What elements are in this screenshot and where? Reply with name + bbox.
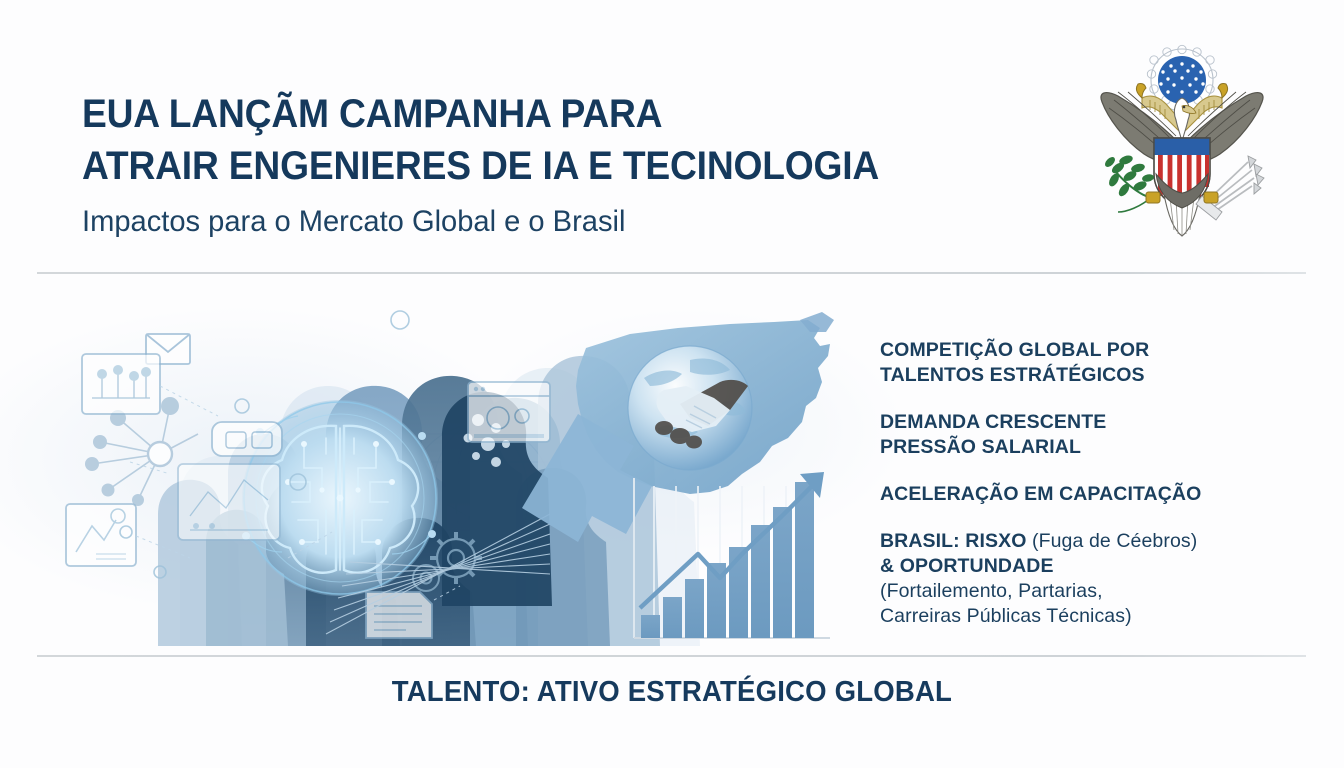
- browser-window-icon: [468, 382, 550, 442]
- illustration-panel: [30, 286, 850, 646]
- footer-text: TALENTO: ATIVO ESTRATÉGICO GLOBAL: [392, 676, 952, 709]
- bullet-demanda-pressao: DEMANDA CRESCENTE PRESSÃO SALARIAL: [880, 410, 1280, 460]
- title-block: EUA LANÇÃM CAMPANHA PARA ATRAIR ENGENIER…: [82, 88, 1022, 240]
- handshake-globe-icon: [628, 346, 752, 470]
- org-chart-panel-icon: [82, 354, 160, 414]
- brasil-regular-2: (Fortailemento, Partarias, Carreiras Púb…: [880, 580, 1132, 627]
- document-icon: [366, 592, 432, 638]
- vr-headset-icon: [212, 422, 282, 456]
- footer-banner: TALENTO: ATIVO ESTRATÉGICO GLOBAL: [0, 676, 1344, 709]
- great-seal-icon: [1084, 34, 1280, 250]
- headline-line-2: ATRAIR ENGENIERES DE IA E TECINOLOGIA: [82, 140, 956, 192]
- headline-line-1: EUA LANÇÃM CAMPANHA PARA: [82, 88, 956, 140]
- bullet-competicao-global: COMPETIÇÃO GLOBAL POR TALENTOS ESTRÁTÉGI…: [880, 338, 1280, 388]
- subheadline: Impactos para o Mercato Global e o Brasi…: [82, 204, 994, 240]
- document-panel-icon: [66, 504, 136, 566]
- brasil-bold-2: & OPORTUNDADE: [880, 555, 1054, 577]
- brasil-bold-1: BRASIL: RISXO: [880, 530, 1032, 552]
- bullet-brasil-risco-oportunidade: BRASIL: RISXO (Fuga de Céebros)& OPORTUN…: [880, 529, 1280, 629]
- footer-divider: [37, 655, 1306, 657]
- header-divider: [37, 272, 1306, 274]
- bullet-aceleracao-capacitacao: ACELERAÇÃO EM CAPACITAÇÃO: [880, 482, 1280, 507]
- tablet-panel-icon: [178, 464, 280, 540]
- brasil-regular-1: (Fuga de Céebros): [1032, 530, 1197, 552]
- infographic-slide: EUA LANÇÃM CAMPANHA PARA ATRAIR ENGENIER…: [0, 0, 1344, 768]
- key-points-list: COMPETIÇÃO GLOBAL POR TALENTOS ESTRÁTÉGI…: [880, 338, 1280, 629]
